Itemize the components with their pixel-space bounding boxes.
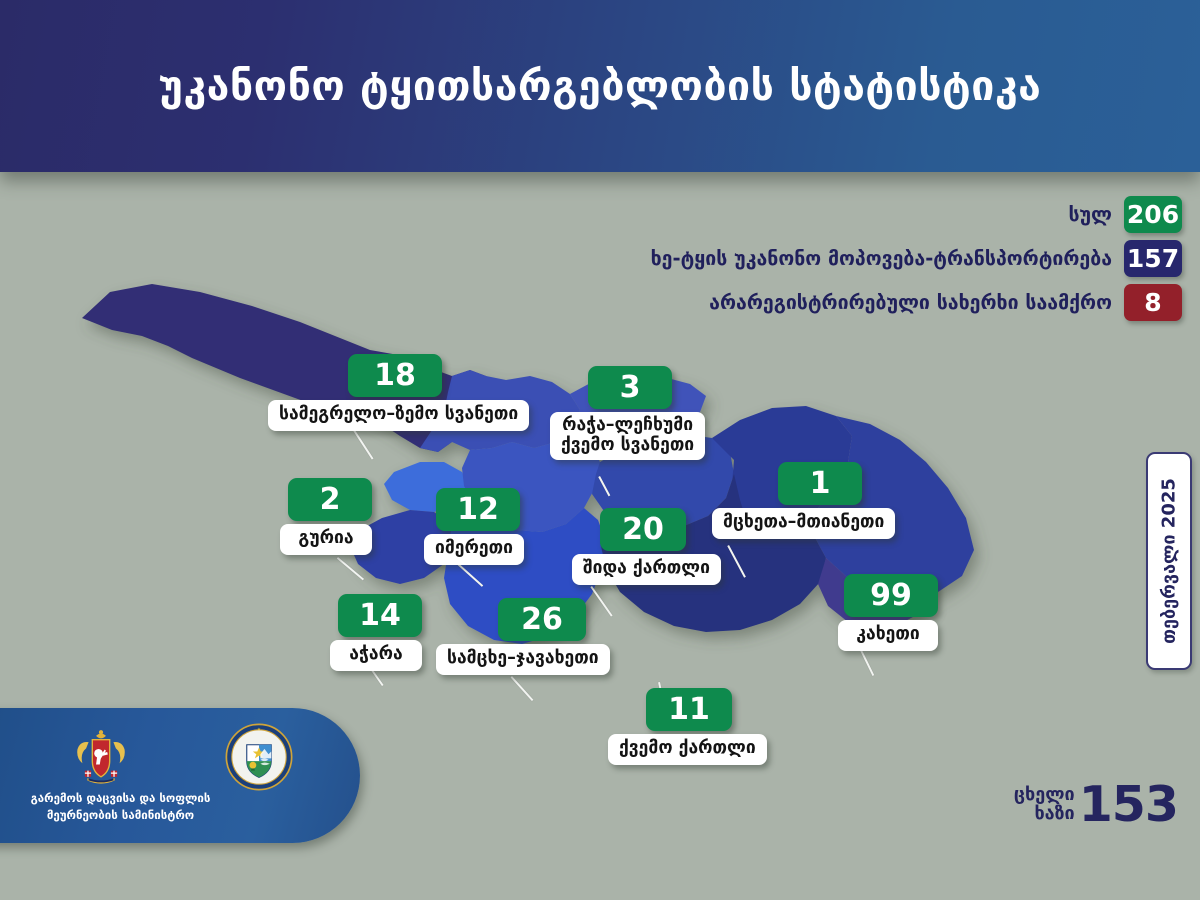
ministry-name-line2: მეურნეობის სამინისტრო [8, 807, 233, 824]
map-value-samtskhe: 26 [498, 598, 586, 641]
map-label-guria: გურია [280, 524, 372, 555]
map-value-kvemo-kartli: 11 [646, 688, 732, 731]
map-label-imereti: იმერეთი [424, 534, 524, 565]
map-marker-samegrelo[interactable]: 18 სამეგრელო–ზემო სვანეთი [268, 354, 529, 431]
map-marker-kakheti[interactable]: 99 კახეთი [838, 574, 938, 651]
map-value-racha: 3 [588, 366, 672, 409]
map-label-samtskhe: სამცხე–ჯავახეთი [436, 644, 610, 675]
ministry-seal-icon: ★ [225, 723, 293, 791]
map-label-samegrelo: სამეგრელო–ზემო სვანეთი [268, 400, 529, 431]
map-marker-adjara[interactable]: 14 აჭარა [330, 594, 422, 671]
ministry-name-line1: გარემოს დაცვისა და სოფლის [8, 790, 233, 807]
map-value-mtskheta: 1 [778, 462, 862, 505]
map-marker-mtskheta[interactable]: 1 მცხეთა–მთიანეთი [712, 462, 895, 539]
map-value-guria: 2 [288, 478, 372, 521]
map-label-adjara: აჭარა [330, 640, 422, 671]
map-marker-samtskhe[interactable]: 26 სამცხე–ჯავახეთი [436, 598, 610, 675]
map-label-kvemo-kartli: ქვემო ქართლი [608, 734, 767, 765]
map-marker-racha[interactable]: 3 რაჭა–ლეჩხუმი ქვემო სვანეთი [550, 366, 705, 460]
hotline-number: 153 [1079, 782, 1178, 827]
map-value-samegrelo: 18 [348, 354, 442, 397]
map-value-kakheti: 99 [844, 574, 938, 617]
map-label-shida-kartli: შიდა ქართლი [572, 554, 721, 585]
map-marker-guria[interactable]: 2 გურია [280, 478, 372, 555]
date-badge: თებერვალი 2025 [1146, 452, 1192, 670]
hotline-label: ცხელი ხაზი [1014, 786, 1075, 823]
legend-label-transport: ხე-ტყის უკანონო მოპოვება-ტრანსპორტირება [651, 247, 1112, 270]
georgia-coat-of-arms-icon [70, 726, 132, 788]
svg-text:★: ★ [257, 726, 261, 731]
legend-value-transport: 157 [1124, 240, 1182, 277]
hotline-word-1: ცხელი [1014, 786, 1075, 804]
map-label-racha-line2: ქვემო სვანეთი [561, 436, 694, 456]
map-label-kakheti: კახეთი [838, 620, 938, 651]
legend-label-total: სულ [1068, 203, 1112, 226]
page-title: უკანონო ტყითსარგებლობის სტატისტიკა [159, 66, 1042, 107]
map-value-shida-kartli: 20 [600, 508, 686, 551]
ministry-logo-bar: ★ გარემოს დაცვისა და სოფლის მეურნეობის ს… [0, 708, 360, 843]
hotline: ცხელი ხაზი 153 [1014, 782, 1178, 827]
map-marker-kvemo-kartli[interactable]: 11 ქვემო ქართლი [608, 688, 767, 765]
map-label-racha: რაჭა–ლეჩხუმი ქვემო სვანეთი [550, 412, 705, 460]
legend-row-unregistered: არარეგისტრირებული სახერხი საამქრო 8 [651, 284, 1182, 321]
legend-value-unregistered: 8 [1124, 284, 1182, 321]
infographic-canvas: უკანონო ტყითსარგებლობის სტატისტიკა სულ 2… [0, 0, 1200, 900]
date-badge-text: თებერვალი 2025 [1159, 478, 1180, 644]
map-value-imereti: 12 [436, 488, 520, 531]
legend-row-total: სულ 206 [651, 196, 1182, 233]
map-label-mtskheta: მცხეთა–მთიანეთი [712, 508, 895, 539]
legend-label-unregistered: არარეგისტრირებული სახერხი საამქრო [709, 291, 1112, 314]
ministry-name: გარემოს დაცვისა და სოფლის მეურნეობის სამ… [8, 790, 233, 823]
legend-row-transport: ხე-ტყის უკანონო მოპოვება-ტრანსპორტირება … [651, 240, 1182, 277]
header-bar: უკანონო ტყითსარგებლობის სტატისტიკა [0, 0, 1200, 172]
map-marker-shida-kartli[interactable]: 20 შიდა ქართლი [572, 508, 721, 585]
map-marker-imereti[interactable]: 12 იმერეთი [424, 488, 524, 565]
hotline-word-2: ხაზი [1014, 805, 1075, 823]
legend-value-total: 206 [1124, 196, 1182, 233]
map-value-adjara: 14 [338, 594, 422, 637]
legend: სულ 206 ხე-ტყის უკანონო მოპოვება-ტრანსპო… [651, 196, 1182, 328]
map-label-racha-line1: რაჭა–ლეჩხუმი [561, 416, 694, 436]
